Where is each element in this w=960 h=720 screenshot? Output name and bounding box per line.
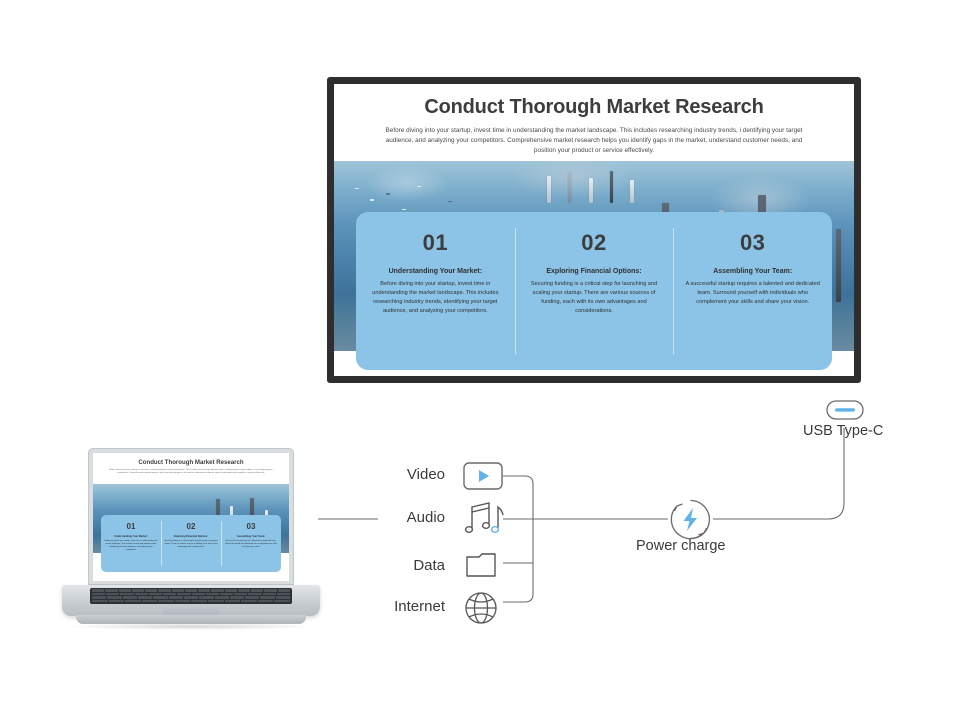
channel-label-internet: Internet [330, 598, 445, 615]
cards-panel: 01 Understanding Your Market: Before div… [356, 212, 832, 370]
card-number: 01 [366, 230, 505, 256]
card-body: Before diving into your startup, invest … [104, 540, 158, 552]
usb-type-c-label: USB Type-C [803, 423, 883, 439]
card-heading: Understanding Your Market: [104, 535, 158, 538]
laptop-card-03: 03 Assembling Your Team: A successful st… [221, 515, 281, 572]
card-03: 03 Assembling Your Team: A successful st… [673, 212, 832, 370]
folder-icon [464, 549, 500, 586]
slide-subtitle: Before diving into your startup, invest … [374, 126, 814, 156]
card-body: A successful startup requires a talented… [224, 540, 278, 549]
wire-power-to-usbc [713, 428, 844, 519]
card-01: 01 Understanding Your Market: Before div… [356, 212, 515, 370]
laptop-card-02: 02 Exploring Financial Options: Securing… [161, 515, 221, 572]
television-display: Conduct Thorough Market Research Before … [327, 77, 861, 383]
laptop-card-01: 01 Understanding Your Market: Before div… [101, 515, 161, 572]
card-heading: Assembling Your Team: [683, 268, 822, 275]
card-heading: Understanding Your Market: [366, 268, 505, 275]
card-body: Securing funding is a critical step for … [525, 280, 664, 316]
channel-label-video: Video [330, 466, 445, 483]
card-number: 02 [164, 522, 218, 531]
laptop-shadow [68, 623, 314, 630]
card-number: 03 [683, 230, 822, 256]
laptop: Conduct Thorough Market Research Before … [62, 448, 320, 634]
power-charge-label: Power charge [636, 538, 725, 554]
card-body: A successful startup requires a talented… [683, 280, 822, 307]
video-play-icon [463, 462, 503, 495]
globe-icon [464, 591, 498, 630]
laptop-trackpad [163, 606, 219, 614]
channel-label-data: Data [330, 557, 445, 574]
laptop-keyboard [90, 588, 292, 604]
card-number: 03 [224, 522, 278, 531]
card-body: Securing funding is a critical step for … [164, 540, 218, 549]
music-notes-icon [462, 498, 506, 545]
laptop-cards-panel: 01 Understanding Your Market: Before div… [101, 515, 281, 572]
wire-bracket [503, 476, 533, 602]
card-number: 01 [104, 522, 158, 531]
laptop-lid: Conduct Thorough Market Research Before … [88, 448, 294, 585]
usb-type-c-icon [826, 400, 864, 425]
card-number: 02 [525, 230, 664, 256]
channel-label-audio: Audio [330, 509, 445, 526]
laptop-slide-title: Conduct Thorough Market Research [93, 459, 289, 466]
laptop-base [62, 585, 320, 616]
laptop-slide-subtitle: Before diving into your startup, invest … [107, 469, 275, 475]
card-heading: Exploring Financial Options: [164, 535, 218, 538]
tv-screen: Conduct Thorough Market Research Before … [334, 84, 854, 376]
card-body: Before diving into your startup, invest … [366, 280, 505, 316]
laptop-screen: Conduct Thorough Market Research Before … [93, 453, 289, 581]
card-02: 02 Exploring Financial Options: Securing… [515, 212, 674, 370]
card-heading: Assembling Your Team: [224, 535, 278, 538]
card-heading: Exploring Financial Options: [525, 268, 664, 275]
slide-title: Conduct Thorough Market Research [334, 96, 854, 119]
